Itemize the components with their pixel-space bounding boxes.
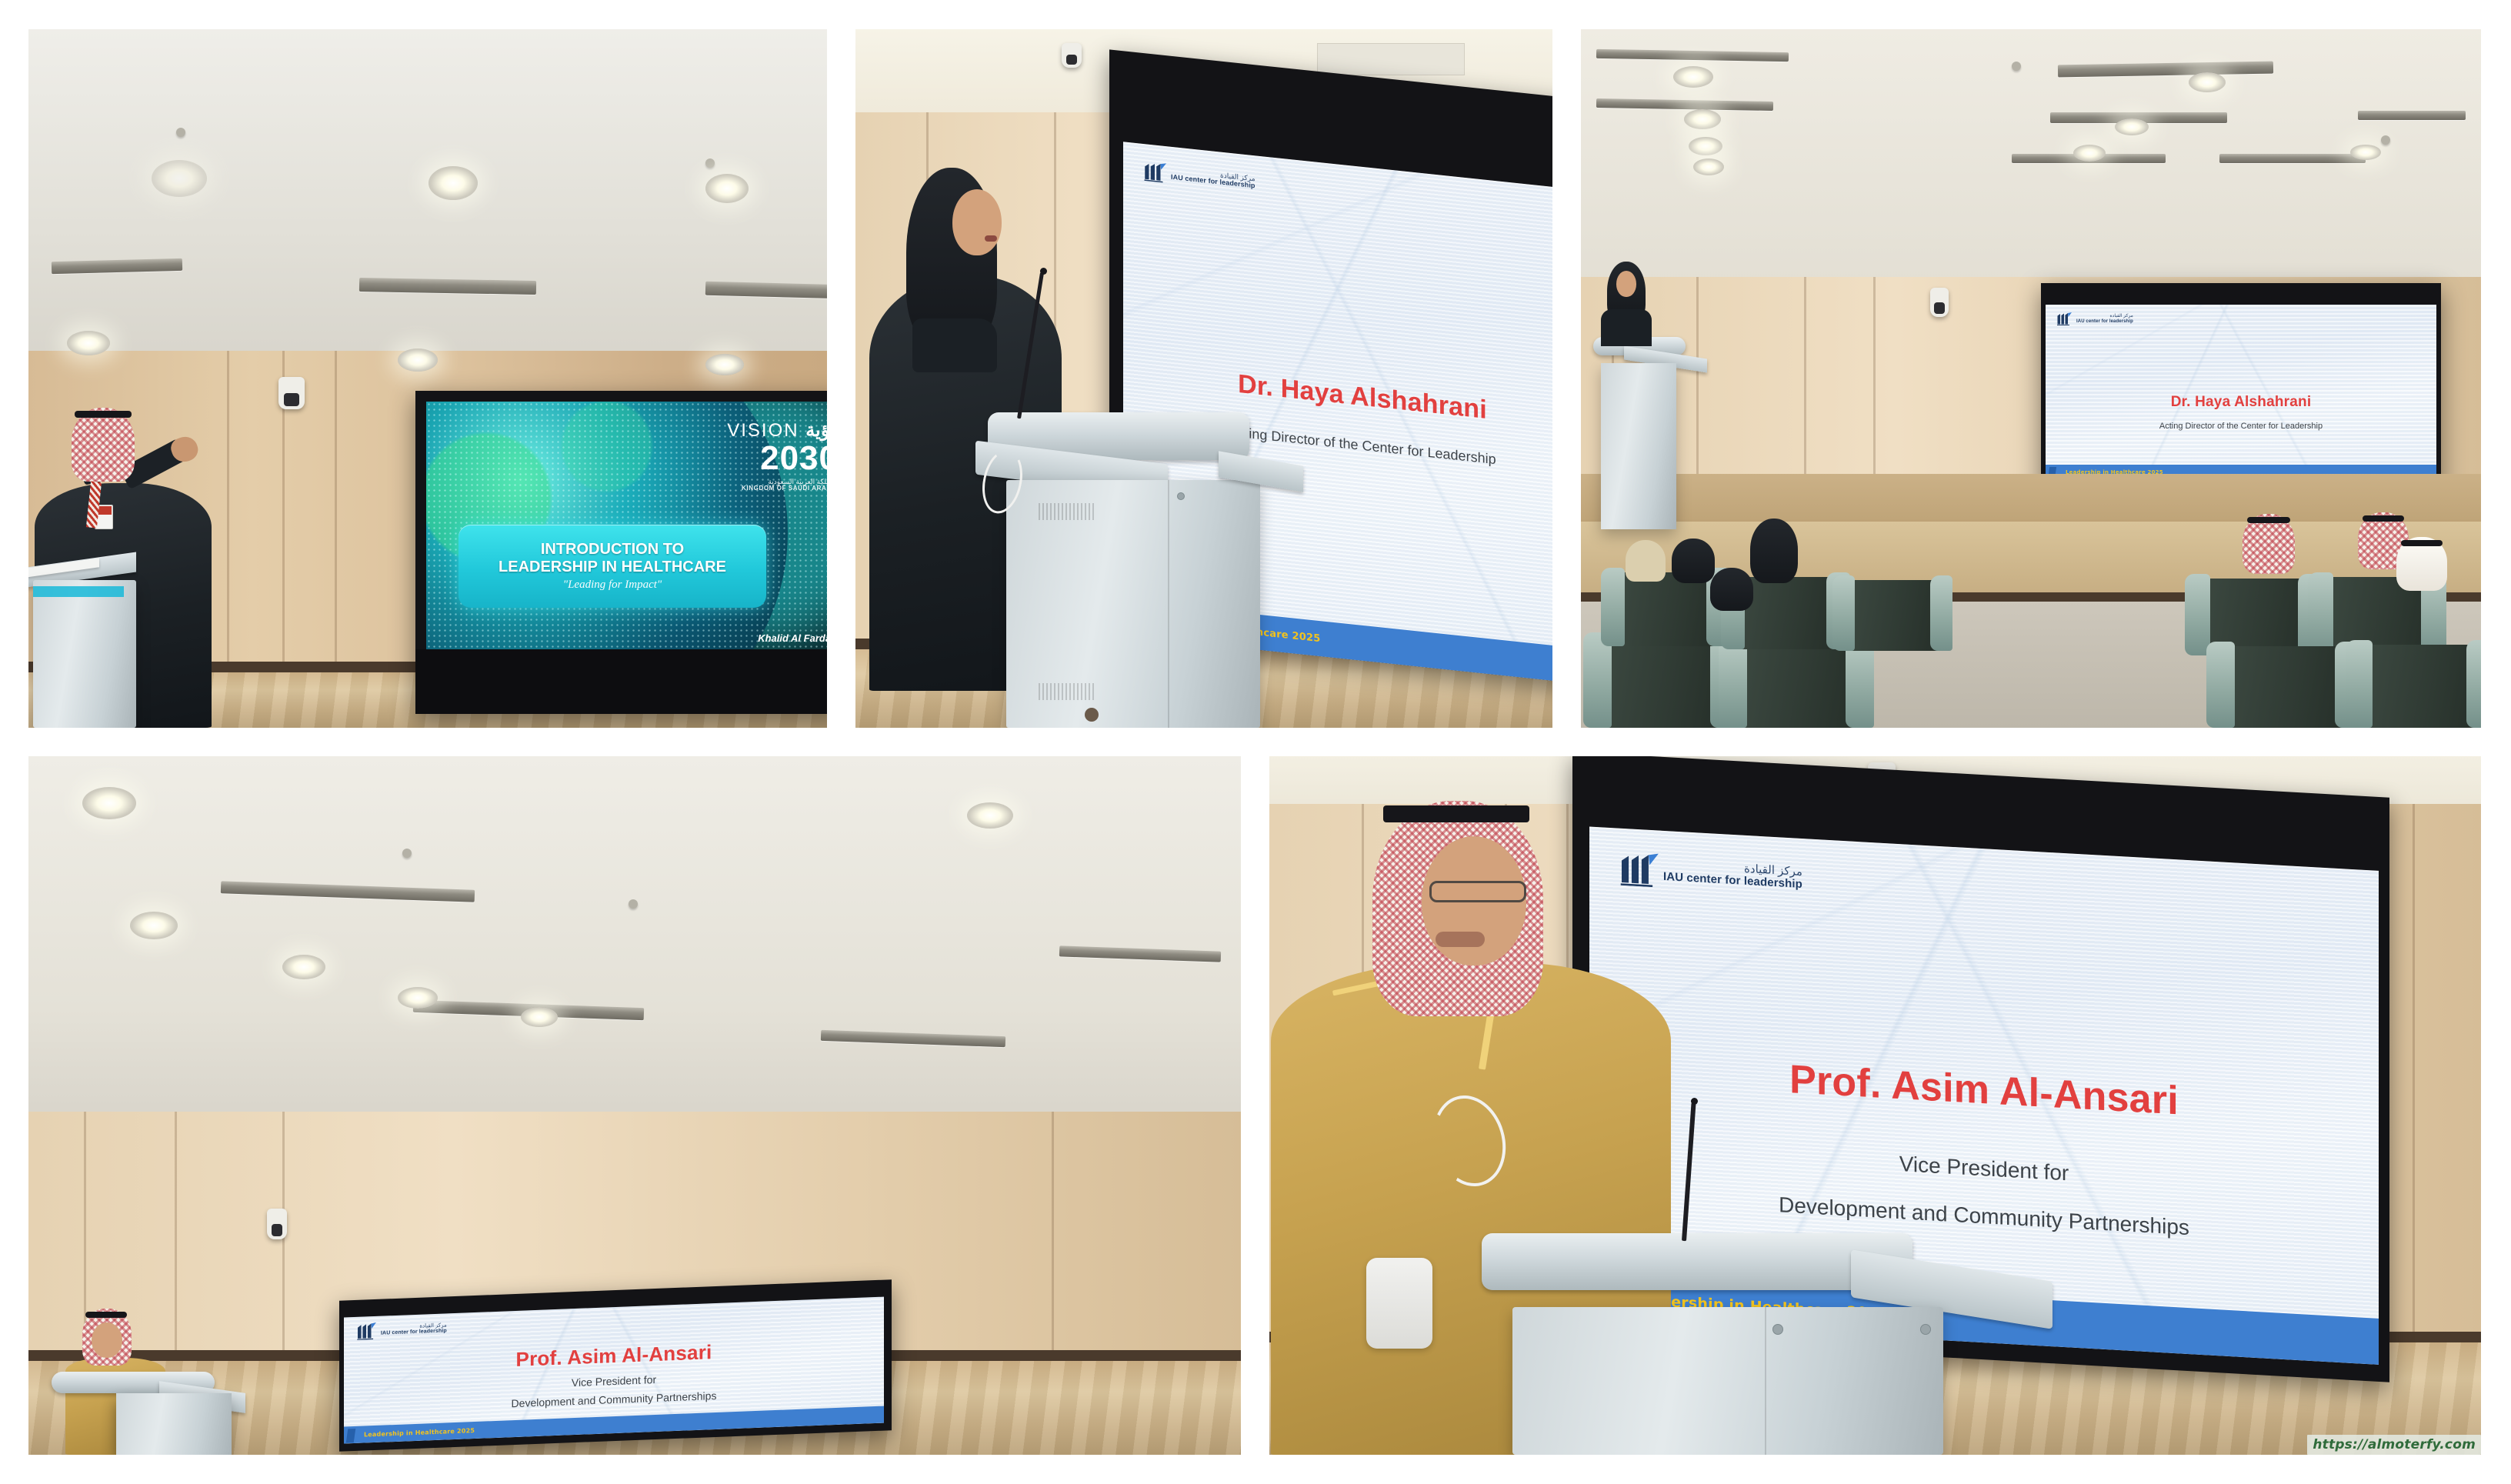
photo-male-speaker-closeup-at-podium: مركز القيادة IAU center for leadership P…	[1269, 756, 2481, 1455]
projection-screen: مركز القيادة IAU center for leadership P…	[339, 1279, 892, 1452]
audience-member	[2396, 537, 2447, 591]
slide-speaker-intro: مركز القيادة IAU center for leadership D…	[2046, 305, 2436, 480]
slide-speaker-intro: مركز القيادة IAU center for leadership P…	[344, 1297, 884, 1444]
slide-speaker-name: Dr. Haya Alshahrani	[2046, 394, 2436, 411]
podium	[1451, 1233, 2066, 1455]
person-female-speaker-far	[1599, 262, 1658, 346]
photo-collage: VISION رؤية 2030 المملكة العربية السعودي…	[0, 0, 2511, 1484]
igal-headband	[1383, 805, 1529, 822]
iau-logo-icon	[1143, 161, 1166, 183]
audience-member	[1750, 519, 1798, 583]
podium	[969, 412, 1292, 728]
photo-auditorium-audience-wide-view: مركز القيادة IAU center for leadership D…	[1581, 29, 2481, 728]
podium	[28, 560, 136, 728]
ceiling-camera-icon	[278, 377, 305, 409]
podium	[1593, 337, 1709, 529]
podium-secondary	[102, 1386, 241, 1455]
audience-member	[1710, 568, 1753, 611]
logo-english: IAU center for leadership	[2076, 319, 2133, 324]
vision-2030-logo: VISION رؤية 2030 المملكة العربية السعودي…	[662, 422, 827, 492]
audience-member	[1672, 539, 1715, 583]
led-screen: VISION رؤية 2030 المملكة العربية السعودي…	[415, 391, 827, 714]
slide-title-pill: INTRODUCTION TO LEADERSHIP IN HEALTHCARE…	[459, 525, 766, 608]
logo-arabic: مركز القيادة	[2076, 314, 2133, 318]
ceiling-camera-icon	[1062, 43, 1082, 68]
iau-logo-icon	[356, 1322, 376, 1340]
audience-member	[1626, 540, 1666, 582]
slide-speaker-role-1: Acting Director of the Center for Leader…	[2046, 422, 2436, 431]
watermark: https://almoterfy.com	[2307, 1435, 2481, 1455]
photo-male-presenter-opening-slide: VISION رؤية 2030 المملكة العربية السعودي…	[28, 29, 827, 728]
photo-hall-wide-view-with-slide: مركز القيادة IAU center for leadership P…	[28, 756, 1241, 1455]
photo-female-speaker-at-podium: مركز القيادة IAU center for leadership D…	[855, 29, 1552, 728]
ceiling-camera-icon	[267, 1209, 287, 1239]
audience-member	[2243, 514, 2295, 574]
iau-logo-icon	[2056, 312, 2072, 325]
ceiling-camera-icon	[1930, 288, 1949, 317]
